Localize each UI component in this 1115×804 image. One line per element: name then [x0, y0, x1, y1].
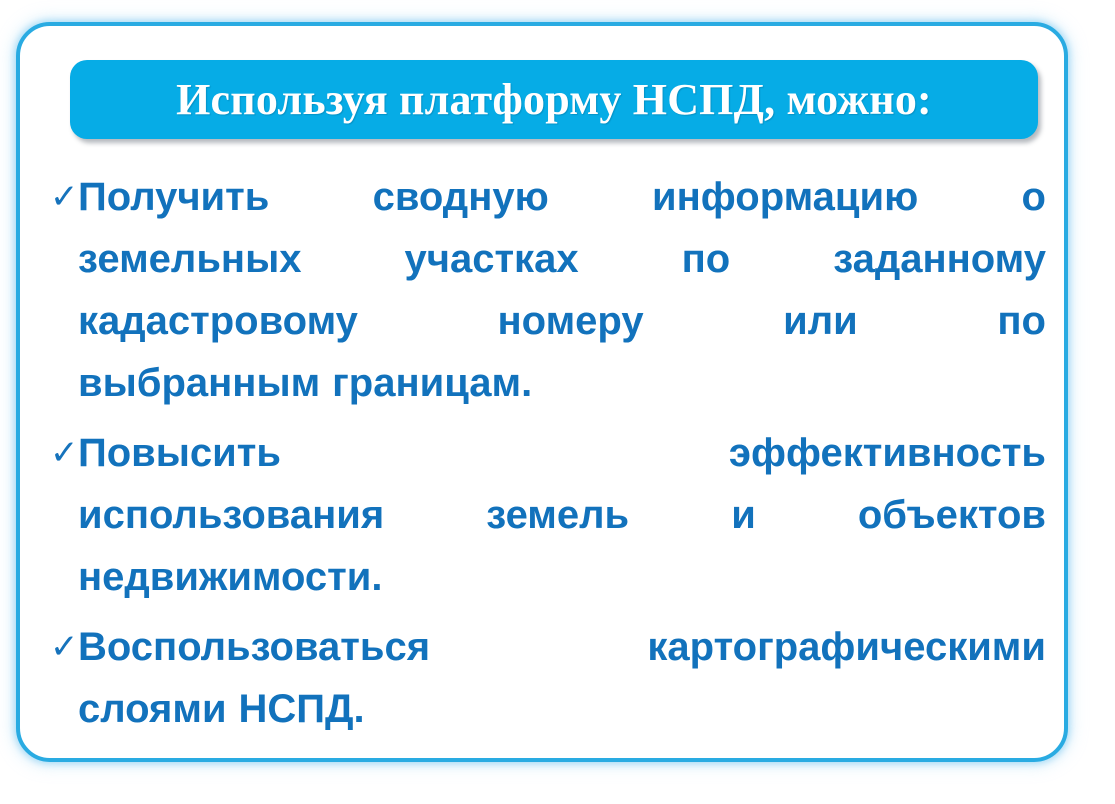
slide-frame: Используя платформу НСПД, можно: ✓ Получ…	[16, 22, 1068, 762]
list-item-line: слоями НСПД.	[78, 678, 1046, 740]
check-icon: ✓	[46, 166, 78, 228]
list-item-text: Повысить эффективность использования зем…	[78, 422, 1046, 608]
bullet-list: ✓ Получить сводную информацию о земельны…	[46, 166, 1046, 748]
list-item-line: Повысить эффективность	[78, 422, 1046, 484]
page-title: Используя платформу НСПД, можно:	[176, 78, 932, 122]
list-item-line: Получить сводную информацию о	[78, 166, 1046, 228]
list-item: ✓ Повысить эффективность использования з…	[46, 422, 1046, 608]
check-icon: ✓	[46, 422, 78, 484]
header-banner: Используя платформу НСПД, можно:	[70, 60, 1038, 139]
list-item-line: Воспользоваться картографическими	[78, 616, 1046, 678]
list-item-line: земельных участках по заданному	[78, 228, 1046, 290]
list-item: ✓ Воспользоваться картографическими слоя…	[46, 616, 1046, 740]
list-item-line: недвижимости.	[78, 546, 1046, 608]
check-icon: ✓	[46, 616, 78, 678]
list-item-text: Воспользоваться картографическими слоями…	[78, 616, 1046, 740]
list-item-text: Получить сводную информацию о земельных …	[78, 166, 1046, 414]
list-item-line: использования земель и объектов	[78, 484, 1046, 546]
list-item-line: выбранным границам.	[78, 352, 1046, 414]
list-item: ✓ Получить сводную информацию о земельны…	[46, 166, 1046, 414]
list-item-line: кадастровому номеру или по	[78, 290, 1046, 352]
